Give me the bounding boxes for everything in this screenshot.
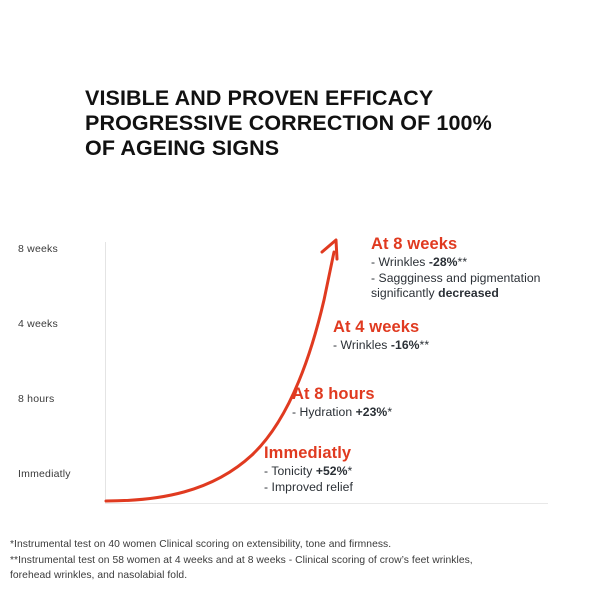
annotation-footnote-marker: * bbox=[387, 405, 392, 419]
annotation-value: +23% bbox=[356, 405, 388, 419]
annotation-text: - Tonicity bbox=[264, 464, 316, 478]
annotation-line: - Wrinkles -28%** bbox=[371, 255, 556, 271]
annotation-line: - Improved relief bbox=[264, 480, 353, 496]
infographic-page: VISIBLE AND PROVEN EFFICACY PROGRESSIVE … bbox=[0, 0, 600, 600]
annotation-value: -16% bbox=[391, 338, 420, 352]
annotation-value: decreased bbox=[438, 286, 499, 300]
annotation-heading: Immediatly bbox=[264, 443, 353, 463]
annotation-line: - Wrinkles -16%** bbox=[333, 338, 429, 354]
annotation-text: - Wrinkles bbox=[371, 255, 429, 269]
annotation-heading: At 8 weeks bbox=[371, 234, 556, 254]
efficacy-chart: 8 weeks 4 weeks 8 hours Immediatly At 8 … bbox=[0, 0, 600, 600]
annotation-value: -28% bbox=[429, 255, 458, 269]
footnote-single-asterisk: *Instrumental test on 40 women Clinical … bbox=[10, 537, 590, 553]
annotation-footnote-marker: ** bbox=[420, 338, 430, 352]
footnotes: *Instrumental test on 40 women Clinical … bbox=[10, 537, 590, 584]
footnote-double-asterisk-continued: forehead wrinkles, and nasolabial fold. bbox=[10, 568, 590, 584]
annotation-8-hours: At 8 hours - Hydration +23%* bbox=[292, 384, 392, 421]
footnote-double-asterisk: **Instrumental test on 58 women at 4 wee… bbox=[10, 553, 590, 569]
annotation-line: - Saggginess and pigmentation significan… bbox=[371, 271, 556, 302]
annotation-value: +52% bbox=[316, 464, 348, 478]
annotation-footnote-marker: ** bbox=[458, 255, 468, 269]
annotation-8-weeks: At 8 weeks - Wrinkles -28%** - Sagggines… bbox=[371, 234, 556, 302]
annotation-heading: At 4 weeks bbox=[333, 317, 429, 337]
annotation-line: - Hydration +23%* bbox=[292, 405, 392, 421]
annotation-immediatly: Immediatly - Tonicity +52%* - Improved r… bbox=[264, 443, 353, 495]
annotation-text: - Hydration bbox=[292, 405, 356, 419]
annotation-4-weeks: At 4 weeks - Wrinkles -16%** bbox=[333, 317, 429, 354]
annotation-heading: At 8 hours bbox=[292, 384, 392, 404]
annotation-text: - Wrinkles bbox=[333, 338, 391, 352]
annotation-footnote-marker: * bbox=[348, 464, 353, 478]
annotation-line: - Tonicity +52%* bbox=[264, 464, 353, 480]
